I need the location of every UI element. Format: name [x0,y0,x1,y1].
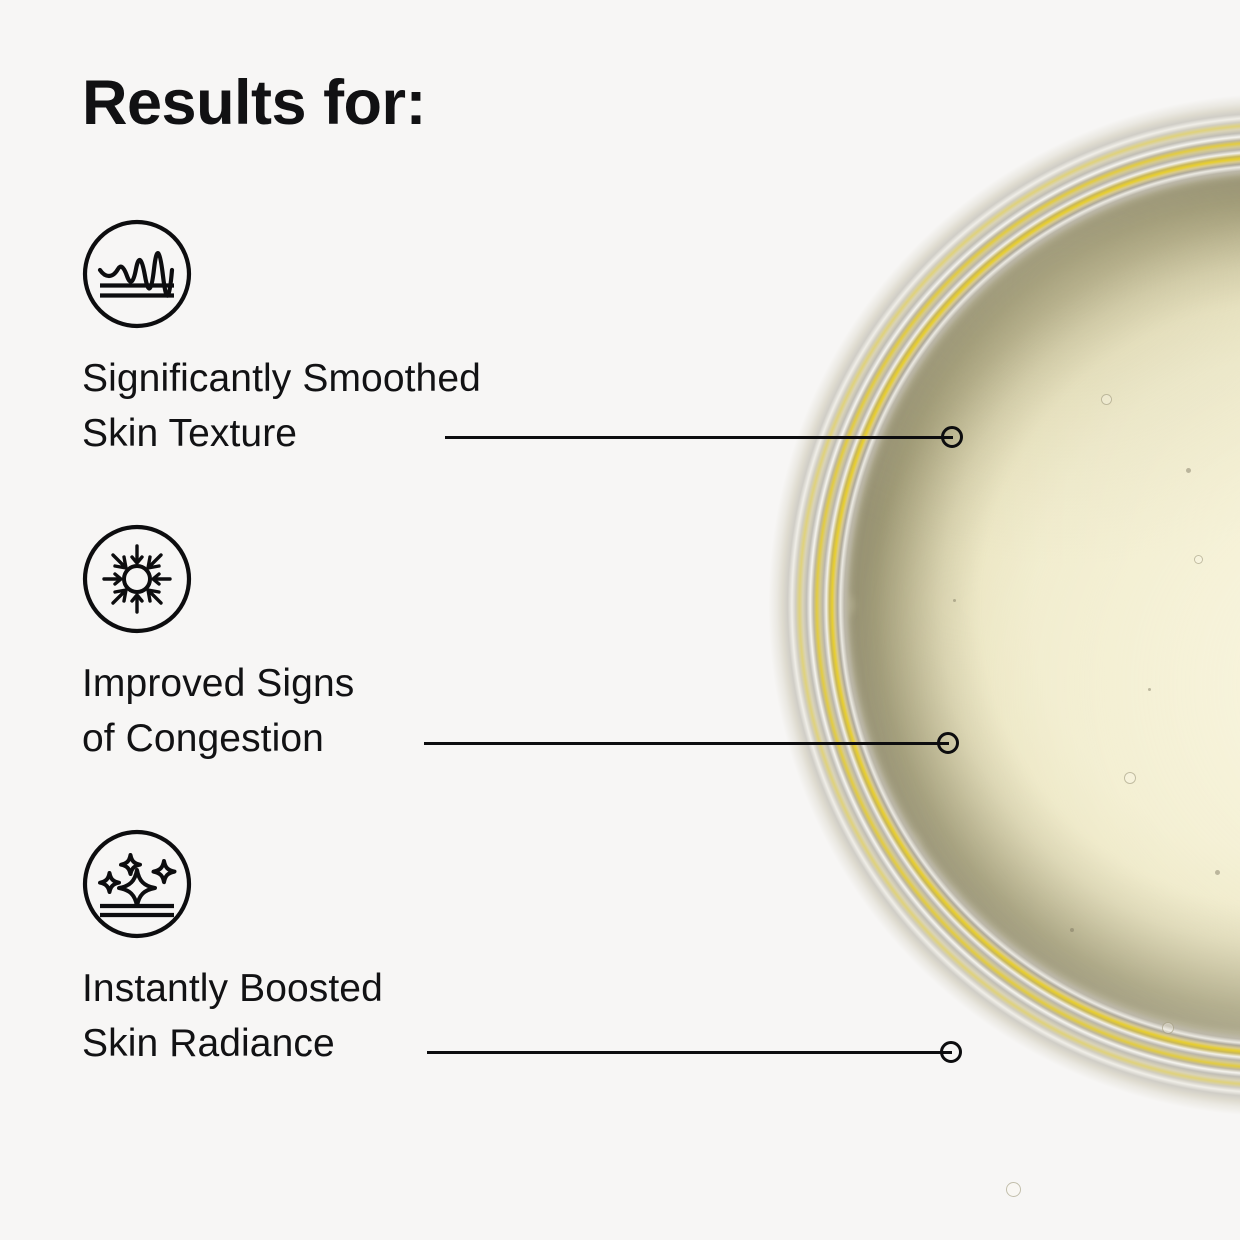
leader-endpoint-congestion [937,732,959,754]
jar-glass-rim [615,0,1240,1240]
leader-endpoint-smoothed-texture [941,426,963,448]
oil-speck [1070,928,1074,932]
jar-outer-shadow [615,0,1240,1240]
oil-speck [1215,870,1220,875]
feature-label: Significantly Smoothed Skin Texture [82,351,481,462]
congestion-arrows-icon [82,524,192,634]
leader-line-radiance [427,1051,952,1054]
radiance-sparkle-icon [82,829,192,939]
oil-speck [1186,468,1191,473]
infographic-canvas: Results for: Significantly Smoothed Skin… [0,0,1240,1240]
oil-bubble [1124,772,1136,784]
oil-bubble [1101,394,1112,405]
oil-bubble [1162,1022,1174,1034]
feature-label: Instantly Boosted Skin Radiance [82,961,383,1072]
leader-line-smoothed-texture [445,436,953,439]
jar-inner-band [615,0,1240,1240]
product-photo [615,0,1240,1240]
feature-item-radiance: Instantly Boosted Skin Radiance [82,829,383,1072]
oil-bubble [1006,1182,1021,1197]
leader-endpoint-radiance [940,1041,962,1063]
jar-oil-sheen [615,0,1240,1240]
oil-speck [953,599,956,602]
feature-item-congestion: Improved Signs of Congestion [82,524,354,767]
oil-jar [615,0,1240,1240]
oil-speck [1148,688,1151,691]
oil-bubble [1194,555,1203,564]
page-title: Results for: [82,72,426,135]
feature-label: Improved Signs of Congestion [82,656,354,767]
jar-mottled-texture [615,0,1240,1240]
feature-item-smoothed-texture: Significantly Smoothed Skin Texture [82,219,481,462]
leader-line-congestion [424,742,949,745]
smoothed-texture-icon [82,219,192,329]
jar-oil-body [615,0,1240,1240]
